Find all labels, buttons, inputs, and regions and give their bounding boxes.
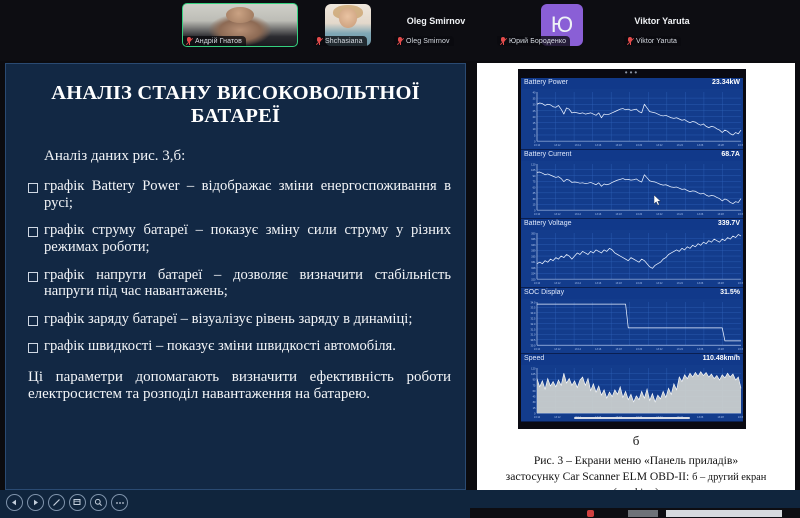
mic-muted-icon (500, 37, 506, 45)
svg-text:13:20: 13:20 (636, 348, 643, 351)
svg-text:13:24: 13:24 (677, 213, 684, 216)
slide-bullet-text: графік заряду батареї – візуалізує рівен… (44, 311, 451, 328)
chart-panel[interactable]: SOC Display31.5%34.033.533.032.532.031.5… (521, 288, 743, 354)
chart-plot[interactable]: 120105907560453015013:1013:1213:1413:161… (521, 161, 743, 218)
chart-value: 68.7A (721, 151, 740, 158)
svg-text:13:22: 13:22 (656, 282, 663, 285)
chart-title: Battery Current (524, 151, 571, 158)
svg-text:40: 40 (533, 90, 536, 94)
svg-text:13:18: 13:18 (615, 348, 622, 351)
svg-text:331: 331 (531, 260, 536, 264)
svg-text:13:10: 13:10 (534, 348, 541, 351)
svg-text:320: 320 (531, 278, 536, 282)
chart-header: Speed110.48km/h (521, 354, 743, 365)
participant-name: Андрій Гнатов (195, 38, 242, 45)
bullet-square-icon (28, 227, 38, 237)
svg-text:13:20: 13:20 (636, 282, 643, 285)
svg-text:15: 15 (533, 203, 536, 207)
svg-text:13:14: 13:14 (575, 282, 582, 285)
svg-text:350: 350 (531, 231, 536, 235)
svg-text:13:26: 13:26 (697, 144, 704, 147)
svg-text:75: 75 (533, 383, 536, 387)
chart-title: Speed (524, 355, 544, 362)
svg-text:13:20: 13:20 (636, 144, 643, 147)
svg-text:32.5: 32.5 (530, 317, 536, 321)
car-scanner-dashboard: Battery Power23.34kW403530252015105013:1… (521, 78, 743, 422)
chart-header: SOC Display31.5% (521, 288, 743, 299)
svg-text:60: 60 (533, 185, 536, 189)
slide-bullet: графік заряду батареї – візуалізує рівен… (28, 311, 451, 328)
svg-text:13:10: 13:10 (534, 144, 541, 147)
chart-value: 31.5% (720, 289, 740, 296)
svg-text:13:14: 13:14 (575, 348, 582, 351)
svg-text:15: 15 (533, 121, 536, 125)
phone-screenshot: Battery Power23.34kW403530252015105013:1… (518, 77, 746, 429)
svg-text:13:16: 13:16 (595, 213, 602, 216)
chart-plot[interactable]: 34.033.533.032.532.031.531.030.530.013:1… (521, 299, 743, 353)
chart-plot[interactable]: 403530252015105013:1013:1213:1413:1613:1… (521, 89, 743, 149)
chart-title: Battery Power (524, 79, 568, 86)
subfigure-label: б (477, 433, 795, 449)
chart-title: Battery Voltage (524, 220, 571, 227)
bullet-square-icon (28, 316, 38, 326)
svg-text:105: 105 (531, 372, 536, 376)
svg-text:13:18: 13:18 (615, 144, 622, 147)
chart-value: 339.7V (718, 220, 740, 227)
svg-text:32.0: 32.0 (530, 322, 536, 326)
svg-text:30.0: 30.0 (530, 344, 536, 348)
chart-plot[interactable]: 35034634333933533132832432013:1013:1213:… (521, 230, 743, 287)
svg-text:13:16: 13:16 (595, 144, 602, 147)
svg-text:5: 5 (534, 133, 536, 137)
svg-text:346: 346 (531, 237, 536, 241)
svg-text:90: 90 (533, 378, 536, 382)
mic-muted-icon (186, 37, 192, 45)
participant-filmstrip: A Андрей Нечаус Андрій Гнатов (0, 0, 800, 61)
svg-text:13:26: 13:26 (697, 416, 704, 419)
chart-panel[interactable]: Speed110.48km/h120105907560453015013:101… (521, 354, 743, 422)
slide-bullet: графік швидкості – показує зміни швидкос… (28, 338, 451, 355)
svg-text:13:14: 13:14 (575, 213, 582, 216)
presentation-toolbar (0, 490, 800, 518)
svg-text:75: 75 (533, 180, 536, 184)
svg-text:13:14: 13:14 (575, 144, 582, 147)
participant-tile-active-speaker[interactable]: Андрій Гнатов (183, 4, 297, 46)
taskbar-strip (470, 508, 800, 518)
slide-grid-button[interactable] (69, 494, 86, 511)
slide-bullet: графік напруги батареї – дозволяє визнач… (28, 267, 451, 300)
svg-text:120: 120 (531, 162, 536, 166)
svg-text:13:24: 13:24 (677, 348, 684, 351)
svg-text:33.0: 33.0 (530, 311, 536, 315)
svg-text:335: 335 (531, 254, 536, 258)
bullet-square-icon (28, 343, 38, 353)
svg-text:13:28: 13:28 (717, 144, 724, 147)
participant-name: Oleg Smirnov (406, 38, 450, 45)
participant-tile[interactable]: Viktor Yaruta Viktor Yaruta (620, 4, 704, 46)
svg-text:13:10: 13:10 (534, 416, 541, 419)
svg-text:13:30: 13:30 (738, 282, 743, 285)
svg-text:30: 30 (533, 400, 536, 404)
svg-text:45: 45 (533, 395, 536, 399)
svg-text:13:20: 13:20 (636, 213, 643, 216)
chart-panel[interactable]: Battery Power23.34kW403530252015105013:1… (521, 78, 743, 150)
svg-text:0: 0 (534, 209, 536, 213)
svg-text:13:16: 13:16 (595, 348, 602, 351)
timeline-scrollbar[interactable] (574, 417, 689, 419)
svg-text:13:22: 13:22 (656, 144, 663, 147)
svg-text:0: 0 (534, 140, 536, 144)
slide-bullet: графік струму батареї – показує зміну си… (28, 222, 451, 255)
chart-header: Battery Voltage339.7V (521, 219, 743, 230)
svg-text:13:18: 13:18 (615, 282, 622, 285)
chart-plot[interactable]: 120105907560453015013:1013:1213:1413:161… (521, 365, 743, 421)
svg-text:60: 60 (533, 389, 536, 393)
pen-annotate-button[interactable] (48, 494, 65, 511)
zoom-magnifier-button[interactable] (90, 494, 107, 511)
svg-text:45: 45 (533, 191, 536, 195)
participant-namebar: Oleg Smirnov (394, 36, 454, 46)
toolbar-buttons (6, 494, 128, 511)
participant-tile[interactable]: Oleg Smirnov Oleg Smirnov (394, 4, 478, 46)
participant-display-name: Viktor Yaruta (620, 16, 704, 26)
svg-text:15: 15 (533, 406, 536, 410)
svg-text:13:22: 13:22 (656, 348, 663, 351)
participant-tile[interactable]: Shchasiana (325, 4, 371, 46)
svg-text:13:26: 13:26 (697, 282, 704, 285)
participant-namebar: Андрій Гнатов (183, 36, 246, 46)
mic-muted-icon (397, 37, 403, 45)
slide-body: Аналіз даних рис. 3,б: графік Battery Po… (28, 148, 451, 403)
svg-text:13:26: 13:26 (697, 213, 704, 216)
svg-text:10: 10 (533, 127, 536, 131)
participant-name: Viktor Yaruta (636, 38, 677, 45)
svg-text:30.5: 30.5 (530, 338, 536, 342)
svg-text:13:30: 13:30 (738, 213, 743, 216)
svg-text:31.0: 31.0 (530, 333, 536, 337)
svg-text:13:28: 13:28 (717, 213, 724, 216)
svg-text:13:26: 13:26 (697, 348, 704, 351)
participant-namebar: Юрий Бороденко (497, 36, 570, 46)
previous-slide-button[interactable] (6, 494, 23, 511)
svg-text:13:30: 13:30 (738, 416, 743, 419)
svg-text:339: 339 (531, 249, 536, 253)
svg-text:13:12: 13:12 (554, 282, 561, 285)
participant-namebar: Shchasiana (313, 36, 367, 46)
svg-text:13:12: 13:12 (554, 348, 561, 351)
chart-panel[interactable]: Battery Current68.7A12010590756045301501… (521, 150, 743, 219)
taskbar-segment (628, 510, 658, 517)
svg-text:33.5: 33.5 (530, 306, 536, 310)
svg-text:120: 120 (531, 366, 536, 370)
svg-text:31.5: 31.5 (530, 327, 536, 331)
chart-value: 110.48km/h (703, 355, 740, 362)
slide-bullet: графік Battery Power – відображає зміни … (28, 178, 451, 211)
svg-text:25: 25 (533, 109, 536, 113)
svg-text:13:16: 13:16 (595, 282, 602, 285)
bullet-square-icon (28, 183, 38, 193)
slide-bullet-text: графік струму батареї – показує зміну си… (44, 222, 451, 255)
svg-text:13:24: 13:24 (677, 144, 684, 147)
svg-text:34.0: 34.0 (530, 300, 536, 304)
slide-bullet-text: графік напруги батареї – дозволяє визнач… (44, 267, 451, 300)
svg-text:13:10: 13:10 (534, 282, 541, 285)
svg-text:13:18: 13:18 (615, 213, 622, 216)
chart-value: 23.34kW (712, 79, 740, 86)
figure-caption-line2-small: б – другий екран (692, 472, 766, 483)
document-pane: ••• Battery Power23.34kW4035302520151050… (477, 63, 795, 490)
screen-share-window: A Андрей Нечаус Андрій Гнатов (0, 0, 800, 518)
chart-header: Battery Power23.34kW (521, 78, 743, 89)
chart-panel[interactable]: Battery Voltage339.7V3503463433393353313… (521, 219, 743, 288)
svg-text:105: 105 (531, 168, 536, 172)
svg-text:13:10: 13:10 (534, 213, 541, 216)
participant-name: Юрий Бороденко (509, 38, 566, 45)
slide-summary-text: Ці параметри допомагають визначити ефект… (28, 369, 451, 403)
svg-text:13:24: 13:24 (677, 282, 684, 285)
svg-text:13:12: 13:12 (554, 144, 561, 147)
svg-text:13:12: 13:12 (554, 213, 561, 216)
slide-title: АНАЛІЗ СТАНУ ВИСОКОВОЛЬТНОЇ БАТАРЕЇ (20, 82, 451, 128)
svg-text:13:12: 13:12 (554, 416, 561, 419)
svg-text:343: 343 (531, 243, 536, 247)
app-menu-dots-icon: ••• (518, 68, 746, 77)
more-options-button[interactable] (111, 494, 128, 511)
taskbar-indicator (587, 510, 594, 517)
svg-text:0: 0 (534, 412, 536, 416)
svg-text:20: 20 (533, 115, 536, 119)
figure-image: ••• Battery Power23.34kW4035302520151050… (518, 69, 746, 429)
figure-caption-line1: Рис. 3 – Екрани меню «Панель приладів» (485, 453, 787, 469)
svg-text:13:30: 13:30 (738, 144, 743, 147)
participant-name: Shchasiana (325, 38, 363, 45)
svg-text:30: 30 (533, 197, 536, 201)
svg-text:90: 90 (533, 174, 536, 178)
mic-muted-icon (316, 37, 322, 45)
next-slide-button[interactable] (27, 494, 44, 511)
presentation-slide: АНАЛІЗ СТАНУ ВИСОКОВОЛЬТНОЇ БАТАРЕЇ Анал… (5, 63, 466, 490)
slide-lead-text: Аналіз даних рис. 3,б: (28, 148, 451, 165)
chart-header: Battery Current68.7A (521, 150, 743, 161)
bullet-square-icon (28, 272, 38, 282)
svg-text:324: 324 (531, 272, 536, 276)
svg-text:13:28: 13:28 (717, 282, 724, 285)
svg-text:30: 30 (533, 103, 536, 107)
svg-text:13:28: 13:28 (717, 416, 724, 419)
svg-text:13:28: 13:28 (717, 348, 724, 351)
participant-namebar: Viktor Yaruta (624, 36, 681, 46)
svg-text:328: 328 (531, 266, 536, 270)
svg-text:13:22: 13:22 (656, 213, 663, 216)
slide-bullet-text: графік швидкості – показує зміни швидкос… (44, 338, 451, 355)
svg-text:35: 35 (533, 97, 536, 101)
slide-bullet-text: графік Battery Power – відображає зміни … (44, 178, 451, 211)
participant-display-name: Oleg Smirnov (394, 16, 478, 26)
svg-text:13:30: 13:30 (738, 348, 743, 351)
taskbar-segment (666, 510, 782, 517)
participant-tile[interactable]: Ю Юрий Бороденко (541, 4, 583, 46)
mic-muted-icon (627, 37, 633, 45)
chart-title: SOC Display (524, 289, 564, 296)
figure-caption-line2: застосунку Car Scanner ELM OBD-II: (506, 470, 692, 483)
